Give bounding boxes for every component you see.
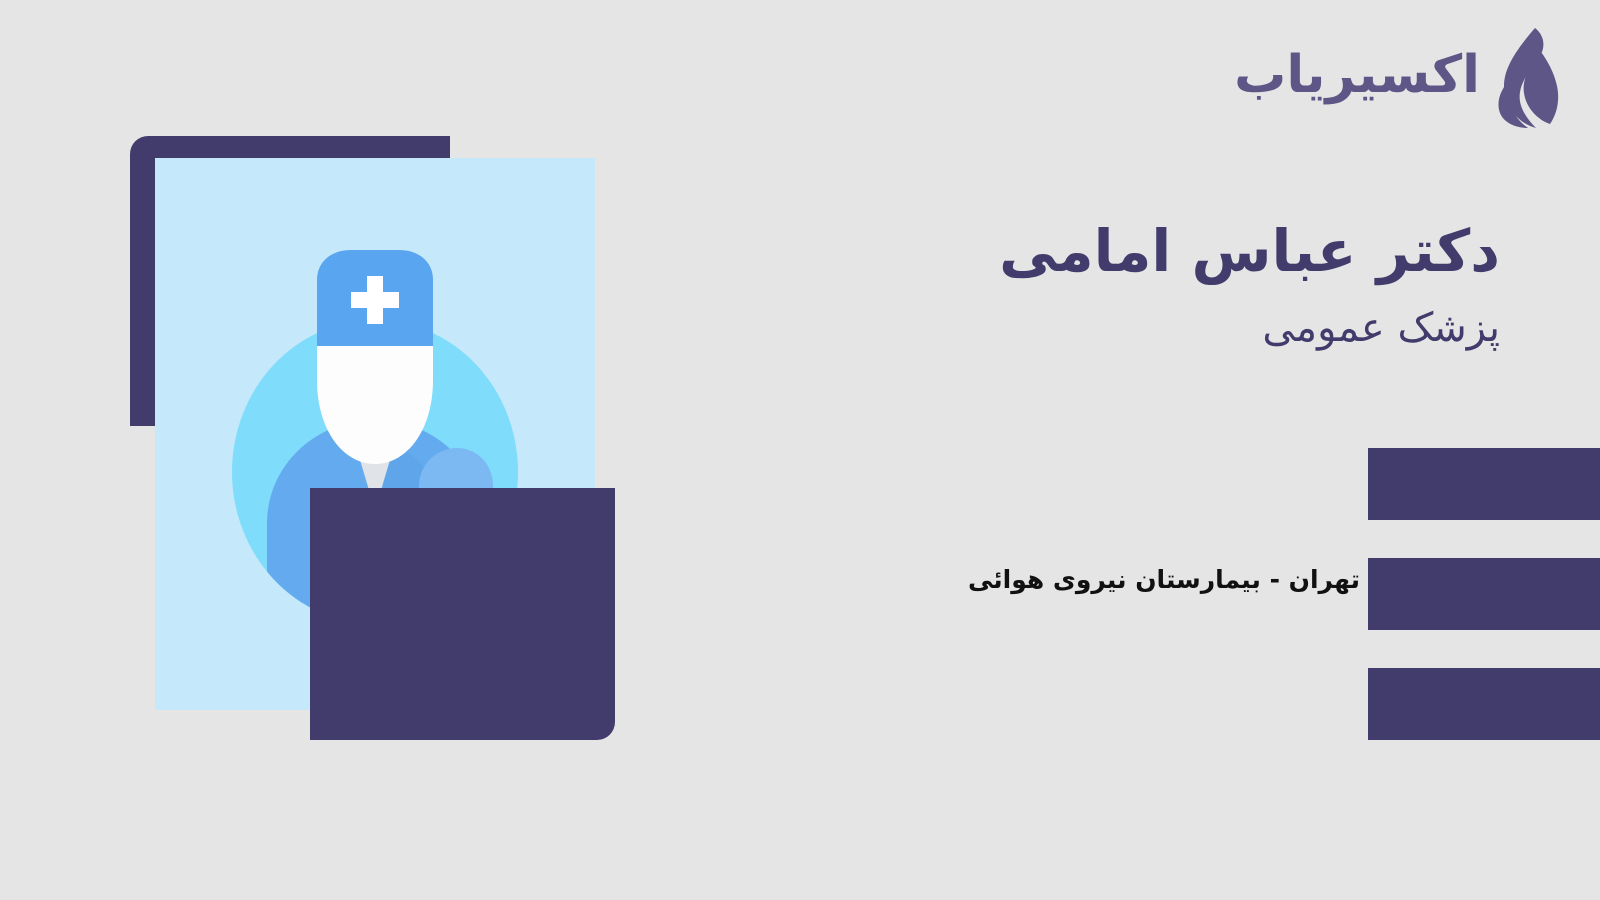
flame-droplet-icon (1494, 26, 1560, 130)
doctor-info: دکتر عباس امامی پزشک عمومی (880, 215, 1500, 354)
doctor-location: تهران - بیمارستان نیروی هوائی (968, 565, 1360, 594)
doctor-name: دکتر عباس امامی (880, 215, 1500, 288)
brand-name: اکسیریاب (1234, 49, 1480, 107)
decorative-bar-3 (1368, 668, 1600, 740)
decorative-bar-2 (1368, 558, 1600, 630)
decorative-frame-front (310, 488, 615, 740)
brand-logo[interactable]: اکسیریاب (1234, 26, 1560, 130)
doctor-specialty: پزشک عمومی (880, 302, 1500, 354)
profile-card-page: اکسیریاب (0, 0, 1600, 900)
decorative-bar-1 (1368, 448, 1600, 520)
decorative-bars (1368, 448, 1600, 743)
doctor-illustration (130, 136, 620, 746)
